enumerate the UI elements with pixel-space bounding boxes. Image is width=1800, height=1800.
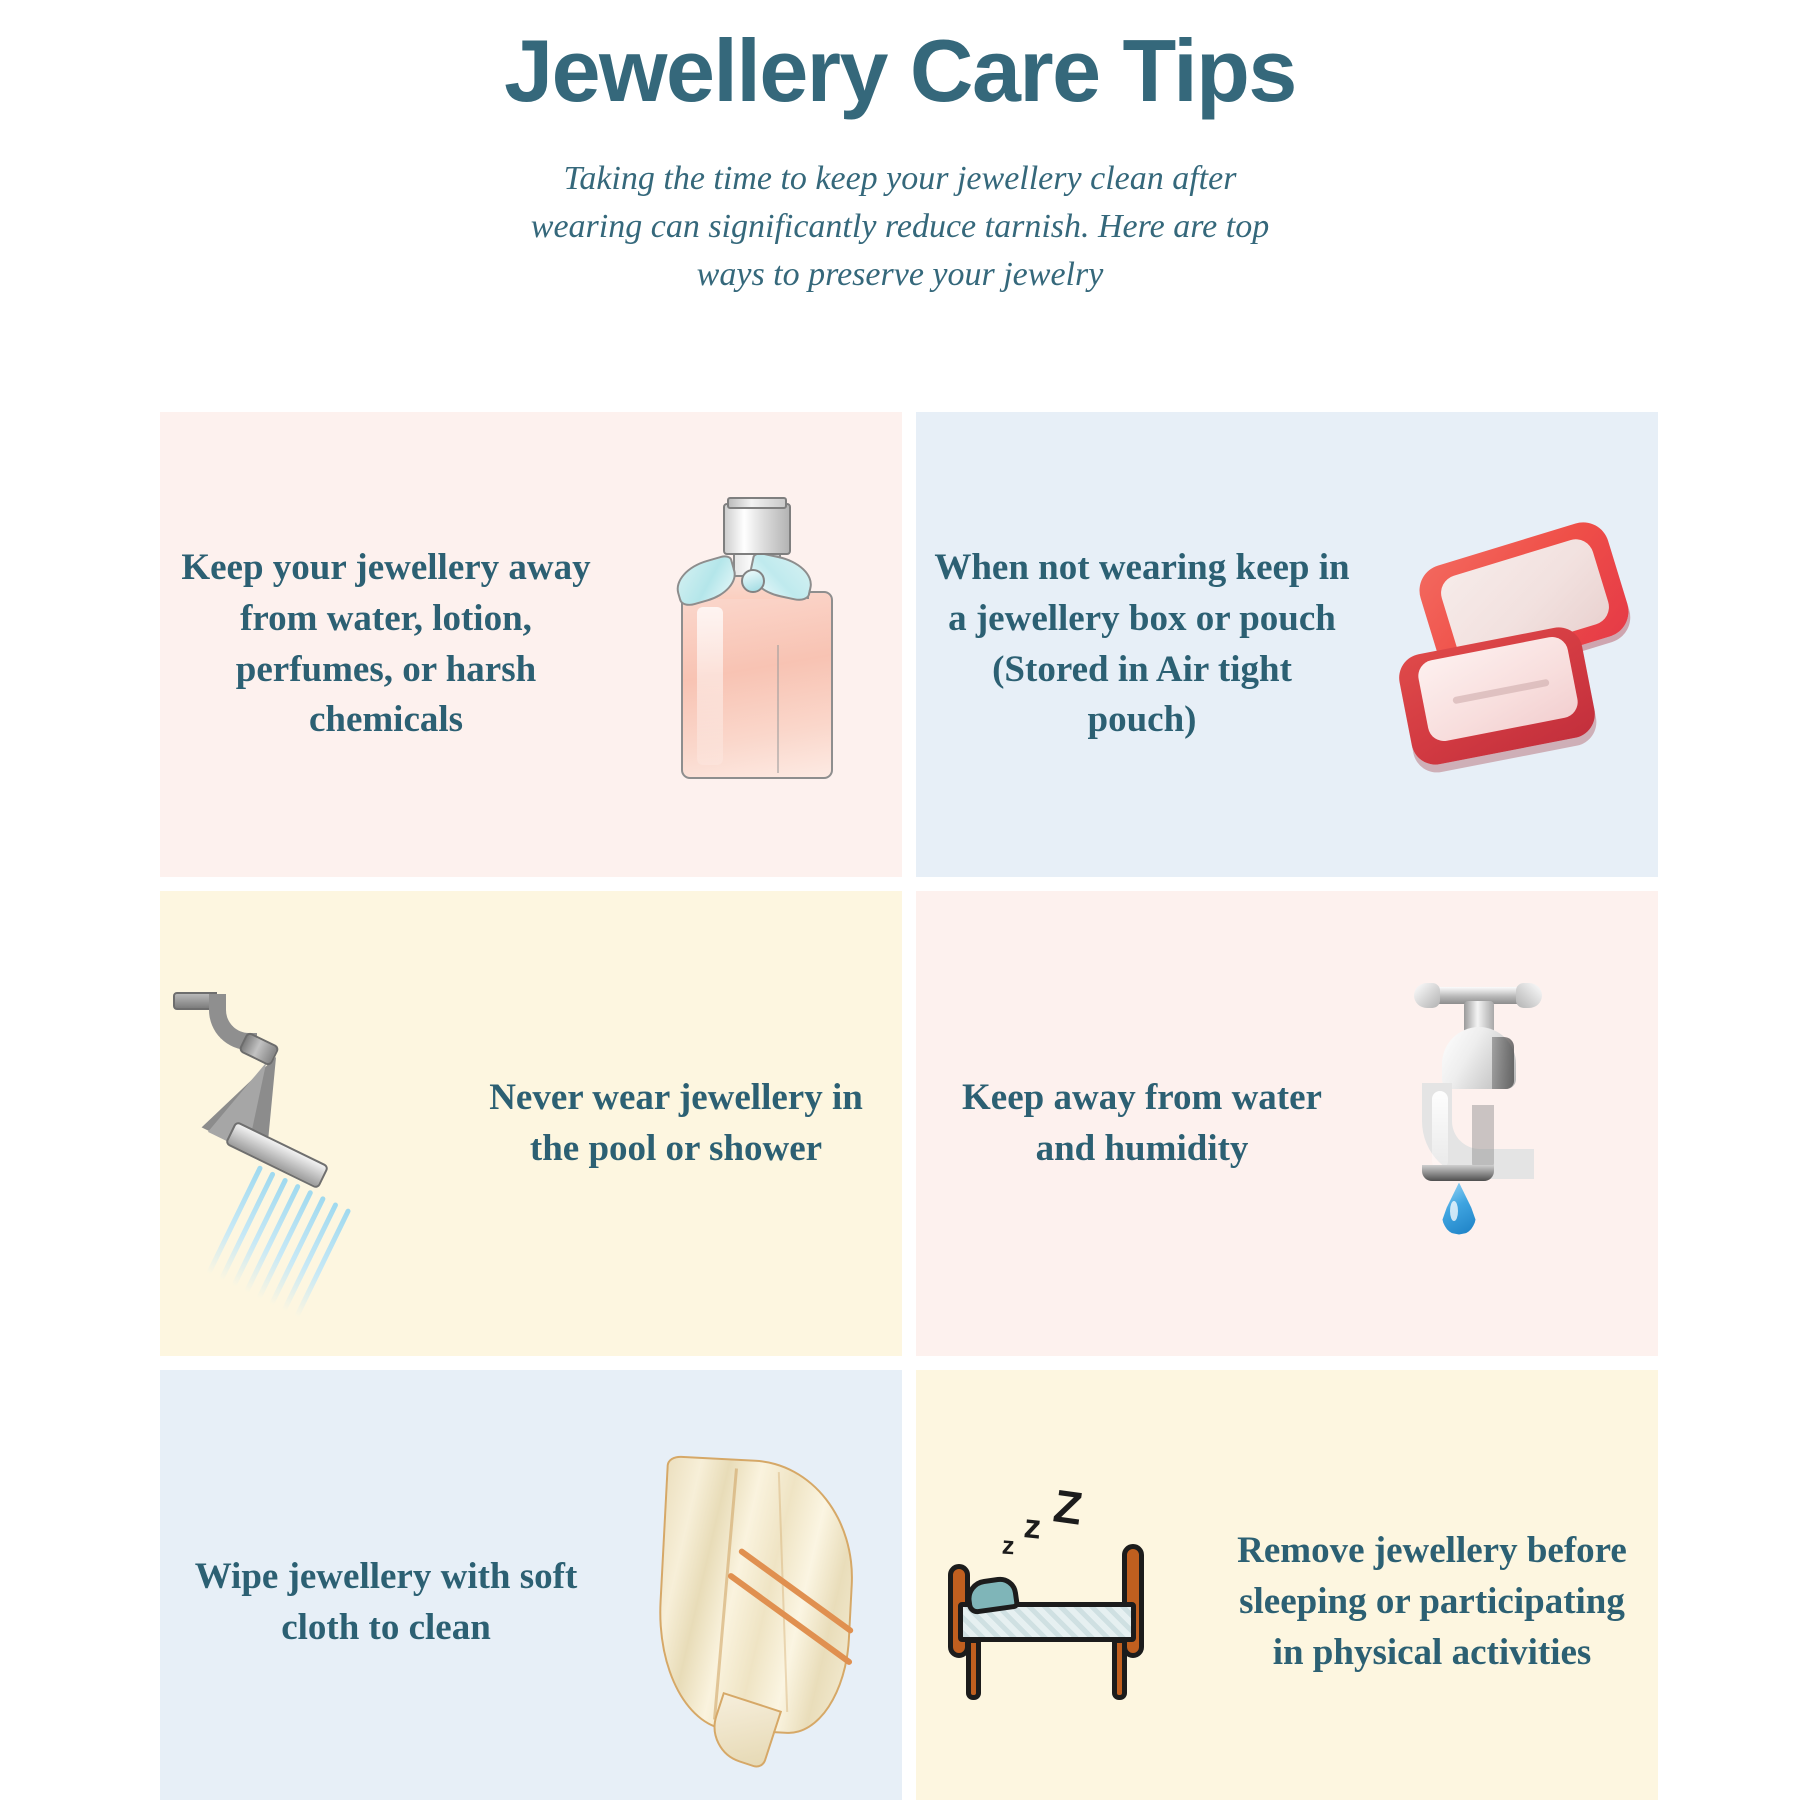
tip-card-wipe-clean-text: Wipe jewellery with soft cloth to clean	[160, 1552, 612, 1653]
soft-cloth-icon	[612, 1438, 902, 1768]
tip-card-chemicals-text: Keep your jewellery away from water, lot…	[160, 543, 612, 746]
faucet-icon	[1368, 959, 1658, 1289]
sleep-z-large: Z	[1050, 1478, 1085, 1535]
sleep-z-small: z	[1001, 1531, 1015, 1561]
tips-grid: Keep your jewellery away from water, lot…	[160, 412, 1644, 1800]
perfume-bottle-icon	[612, 480, 902, 810]
page-title: Jewellery Care Tips	[0, 22, 1800, 121]
header: Jewellery Care Tips Taking the time to k…	[0, 0, 1800, 299]
jewellery-box-icon	[1368, 480, 1658, 810]
tip-card-water-humidity-text: Keep away from water and humidity	[916, 1073, 1368, 1174]
tip-card-wipe-clean[interactable]: Wipe jewellery with soft cloth to clean	[160, 1370, 902, 1800]
shower-head-icon	[160, 959, 450, 1289]
tip-card-chemicals[interactable]: Keep your jewellery away from water, lot…	[160, 412, 902, 877]
tip-card-sleep-activity[interactable]: Remove jewellery before sleeping or part…	[916, 1370, 1658, 1800]
tip-card-water-humidity[interactable]: Keep away from water and humidity	[916, 891, 1658, 1356]
page-subtitle: Taking the time to keep your jewellery c…	[505, 155, 1295, 300]
tip-card-pool-shower-text: Never wear jewellery in the pool or show…	[450, 1073, 902, 1174]
sleep-z-medium: z	[1022, 1507, 1043, 1548]
tip-card-sleep-activity-text: Remove jewellery before sleeping or part…	[1206, 1526, 1658, 1678]
bed-sleeping-icon: Z z z	[916, 1438, 1206, 1768]
infographic-page: Jewellery Care Tips Taking the time to k…	[0, 0, 1800, 1800]
tip-card-storage[interactable]: When not wearing keep in a jewellery box…	[916, 412, 1658, 877]
tip-card-pool-shower[interactable]: Never wear jewellery in the pool or show…	[160, 891, 902, 1356]
tip-card-storage-text: When not wearing keep in a jewellery box…	[916, 543, 1368, 746]
